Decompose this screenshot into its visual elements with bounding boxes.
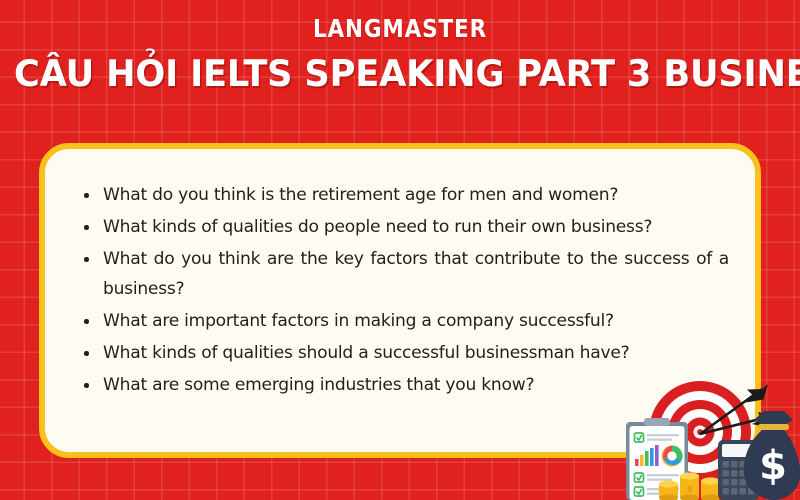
business-illustration: $ [596,378,800,500]
donut-chart-icon [662,445,683,466]
poster-canvas: LANGMASTER CÂU HỎI IELTS SPEAKING PART 3… [0,0,800,500]
question-text: What do you think is the retirement age … [103,185,618,205]
list-item: What do you think are the key factors th… [82,244,729,304]
list-item: What do you think is the retirement age … [82,180,729,210]
brand-logo: LANGMASTER [56,16,744,41]
question-list: What do you think is the retirement age … [45,149,755,400]
list-item: What kinds of qualities should a success… [82,338,729,368]
page-title: CÂU HỎI IELTS SPEAKING PART 3 BUSINESS [14,55,786,93]
money-bag-dollar-symbol: $ [759,443,787,489]
question-text: What do you think are the key factors th… [103,249,729,299]
question-text: What kinds of qualities should a success… [103,343,629,363]
list-item: What kinds of qualities do people need t… [82,212,729,242]
money-bag-icon: $ [744,411,800,500]
coin-dollar-symbol: $ [686,485,692,495]
poster-header: LANGMASTER CÂU HỎI IELTS SPEAKING PART 3… [0,0,800,93]
question-text: What kinds of qualities do people need t… [103,217,652,237]
list-item: What are important factors in making a c… [82,306,729,336]
question-text: What are some emerging industries that y… [103,375,534,395]
question-text: What are important factors in making a c… [103,311,614,331]
clipboard-checklist-icon [626,418,688,500]
